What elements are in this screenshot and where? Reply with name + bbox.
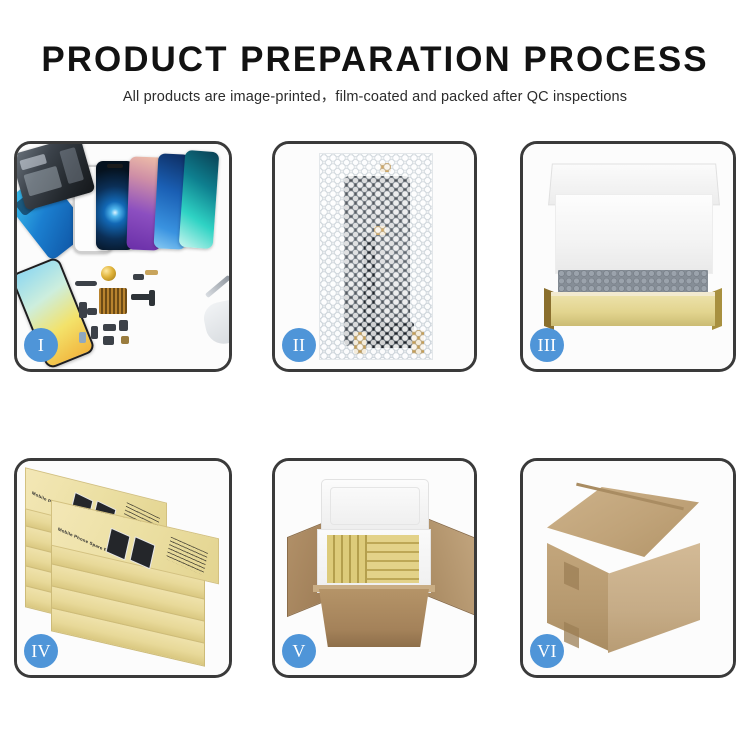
panel-badge-2: II (282, 328, 316, 362)
spare-part-image (79, 302, 87, 318)
panel-badge-5: V (282, 634, 316, 668)
spare-part-image (133, 274, 144, 280)
flex-cable-image (149, 290, 155, 306)
camera-ring-part-image (101, 266, 116, 281)
bubble-wrap-bag-image (319, 153, 433, 360)
spare-part-image (75, 281, 97, 286)
spare-part-image (119, 320, 128, 331)
foam-liner-image (555, 194, 713, 274)
carton-front-image (319, 589, 429, 647)
spare-part-image (91, 326, 98, 339)
tweezers-image (205, 275, 231, 298)
spare-part-image (87, 308, 97, 315)
hand-image (201, 299, 232, 347)
spare-part-image (121, 336, 129, 344)
screw-grid-part-image (99, 288, 127, 314)
spare-part-image (145, 270, 158, 275)
kraft-tray-front-image (551, 296, 715, 326)
box-screen-thumbnail (106, 528, 131, 561)
panel-badge-3: III (530, 328, 564, 362)
process-panel-6: VI (520, 458, 736, 678)
styrofoam-lid-image (321, 479, 429, 535)
carton-right-face-image (608, 543, 700, 653)
process-panel-grid: I II III (0, 0, 750, 750)
bubble-texture-overlay (320, 154, 432, 359)
panel-badge-1: I (24, 328, 58, 362)
yellow-boxes-inside-image (327, 535, 419, 583)
carton-top-image (547, 487, 699, 557)
yellow-box-row (327, 535, 367, 583)
process-panel-2: II (272, 141, 477, 372)
box-spec-lines (166, 537, 208, 576)
process-panel-3: III (520, 141, 736, 372)
teal-phone-image (179, 150, 220, 249)
panel-badge-4: IV (24, 634, 58, 668)
process-panel-1: I (14, 141, 232, 372)
spare-part-image (103, 324, 116, 331)
box-screen-thumbnail (130, 536, 156, 569)
spare-part-image (79, 332, 86, 343)
process-panel-5: V (272, 458, 477, 678)
process-panel-4: Mobile Phone Spare Parts Mobile Phone Sp… (14, 458, 232, 678)
spare-part-image (103, 336, 114, 345)
yellow-box-row (367, 535, 419, 583)
panel-badge-6: VI (530, 634, 564, 668)
